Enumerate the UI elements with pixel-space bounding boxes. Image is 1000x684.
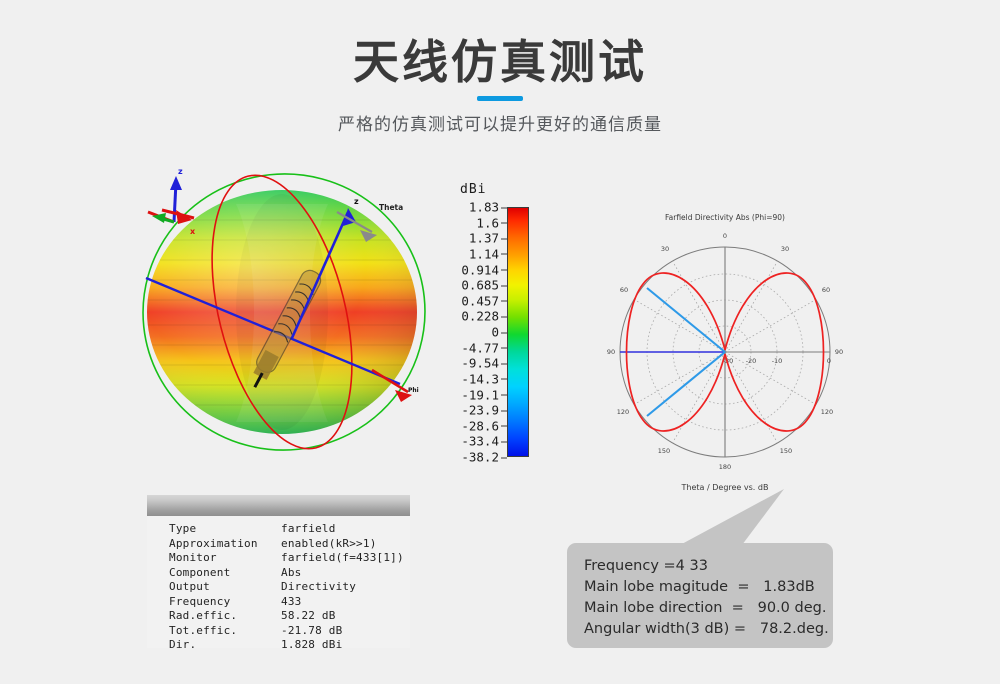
colorbar-tick: -38.2 [461,450,499,465]
colorbar-tick-list: 1.831.61.371.140.9140.6850.4570.2280-4.7… [432,207,507,457]
colorbar-gradient [507,207,529,457]
svg-text:60: 60 [620,286,628,294]
colorbar-tick: -28.6 [461,418,499,433]
svg-text:-10: -10 [772,357,783,365]
title-accent-rule [477,96,523,101]
svg-text:120: 120 [617,408,629,416]
angular-width-ray-lower [647,352,725,416]
parameter-row: ComponentAbs [169,566,410,581]
callout-line-list: Frequency =4 33Main lobe magitude = 1.83… [567,543,833,640]
colorbar-tick: 1.83 [469,200,499,215]
colorbar-tick: 0 [491,325,499,340]
callout-line: Angular width(3 dB) = 78.2.deg. [584,619,833,640]
svg-text:Theta: Theta [379,203,403,212]
measurement-callout: Frequency =4 33Main lobe magitude = 1.83… [567,543,833,648]
colorbar-tick: 1.37 [469,231,499,246]
colorbar-tick: -4.77 [461,340,499,355]
svg-text:x: x [190,227,196,236]
parameter-key: Component [169,566,281,579]
parameter-key: Rad.effic. [169,609,281,622]
parameter-value: 1.828 dBi [281,638,410,651]
parameter-row: OutputDirectivity [169,580,410,595]
parameter-value: farfield(f=433[1]) [281,551,410,564]
colorbar-tick: -19.1 [461,387,499,402]
parameter-value: enabled(kR>>1) [281,537,410,550]
colorbar-tick: 0.228 [461,309,499,324]
svg-text:-20: -20 [746,357,757,365]
farfield-parameter-table: TypefarfieldApproximationenabled(kR>>1)M… [147,495,410,648]
colorbar-tick: 0.457 [461,293,499,308]
parameter-row: Typefarfield [169,522,410,537]
svg-text:30: 30 [661,245,669,253]
parameter-key: Output [169,580,281,593]
parameter-key: Frequency [169,595,281,608]
parameter-value: 433 [281,595,410,608]
parameter-row: Frequency433 [169,595,410,610]
colorbar-tick: -14.3 [461,371,499,386]
svg-text:Phi: Phi [408,387,419,394]
parameter-key: Approximation [169,537,281,550]
colorbar-legend: dBi 1.831.61.371.140.9140.6850.4570.2280… [432,182,544,467]
page-title: 天线仿真测试 [0,26,1000,92]
callout-tail [680,487,790,549]
svg-text:150: 150 [658,447,670,455]
parameter-table-body: TypefarfieldApproximationenabled(kR>>1)M… [147,516,410,653]
parameter-row: Dir.1.828 dBi [169,638,410,653]
parameter-value: Directivity [281,580,410,593]
colorbar-tick: 1.6 [476,215,499,230]
parameter-value: 58.22 dB [281,609,410,622]
farfield-3d-plot: z Phi Theta z x [132,160,432,460]
polar-radial-tick-labels: -30 -20 -10 0 [723,357,831,365]
svg-text:90: 90 [835,348,843,356]
svg-text:60: 60 [822,286,830,294]
parameter-table-header-bar [147,495,410,516]
page-root: 天线仿真测试 严格的仿真测试可以提升更好的通信质量 [0,0,1000,684]
parameter-key: Monitor [169,551,281,564]
svg-text:150: 150 [780,447,792,455]
polar-plot-title: Farfield Directivity Abs (Phi=90) [665,213,785,222]
svg-text:0: 0 [723,232,727,240]
parameter-value: -21.78 dB [281,624,410,637]
svg-text:90: 90 [607,348,615,356]
callout-line: Main lobe magitude = 1.83dB [584,577,833,598]
colorbar-tick: -23.9 [461,403,499,418]
parameter-value: farfield [281,522,410,535]
callout-line: Main lobe direction = 90.0 deg. [584,598,833,619]
angular-width-ray-upper [647,288,725,352]
colorbar-tick: -33.4 [461,434,499,449]
colorbar-tick: 0.914 [461,262,499,277]
svg-text:30: 30 [781,245,789,253]
colorbar-tick: -9.54 [461,356,499,371]
colorbar-unit-label: dBi [460,182,486,197]
parameter-row: Tot.effic.-21.78 dB [169,624,410,639]
svg-text:z: z [178,167,183,176]
svg-text:0: 0 [827,357,831,365]
polar-annotation-rays [620,288,725,416]
svg-text:180: 180 [719,463,731,471]
callout-line: Frequency =4 33 [584,556,833,577]
parameter-key: Tot.effic. [169,624,281,637]
parameter-row: Rad.effic.58.22 dB [169,609,410,624]
parameter-key: Dir. [169,638,281,651]
parameter-row: Monitorfarfield(f=433[1]) [169,551,410,566]
svg-text:120: 120 [821,408,833,416]
page-subtitle: 严格的仿真测试可以提升更好的通信质量 [0,110,1000,135]
parameter-value: Abs [281,566,410,579]
parameter-key: Type [169,522,281,535]
svg-text:z: z [354,197,359,206]
polar-directivity-plot: Farfield Directivity Abs (Phi=90) [580,200,870,500]
colorbar-tick: 1.14 [469,246,499,261]
parameter-row: Approximationenabled(kR>>1) [169,537,410,552]
colorbar-tick: 0.685 [461,278,499,293]
